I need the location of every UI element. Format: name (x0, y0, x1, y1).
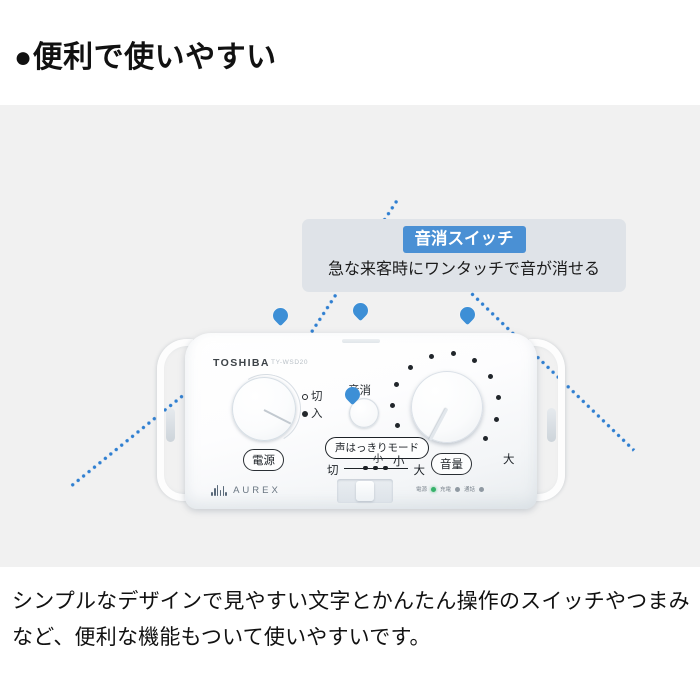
volume-scale-dot (496, 395, 501, 400)
waveform-icon (211, 485, 227, 496)
volume-scale-dot (394, 382, 399, 387)
callout-mute-line: 急な来客時にワンタッチで音が消せる (312, 258, 616, 283)
led-label: 通話 (464, 485, 475, 493)
page-title: ●便利で使いやすい (14, 32, 277, 76)
volume-min-label: 小 (393, 453, 405, 469)
summary-paragraph: シンプルなデザインで見やすい文字とかんたん操作のスイッチやつまみなど、便利な機能… (12, 583, 690, 655)
brand-logo: TOSHIBA (213, 357, 270, 369)
model-number: TY-WSD20 (271, 359, 308, 366)
sub-brand-logo: AUREX (211, 485, 281, 496)
target-dot-volume (457, 304, 478, 325)
volume-scale-dot (451, 351, 456, 356)
voice-scale-tick (363, 466, 368, 471)
callout-mute-title: 音消スイッチ (403, 226, 526, 253)
volume-scale-dot (494, 417, 499, 422)
voice-scale-off-label: 切 (327, 462, 339, 478)
device-illustration: TOSHIBA TY-WSD20 切 入 電 (165, 333, 557, 515)
volume-label: 音量 (431, 453, 472, 475)
power-on-dot-icon (302, 411, 308, 417)
volume-scale-dot (395, 423, 400, 428)
volume-scale-dot (483, 436, 488, 441)
callout-mute[interactable]: 音消スイッチ 急な来客時にワンタッチで音が消せる (302, 219, 626, 292)
title-bullet-icon: ● (14, 41, 33, 74)
volume-scale-dot (488, 374, 493, 379)
sub-brand-text: AUREX (233, 485, 281, 496)
device-body: TOSHIBA TY-WSD20 切 入 電 (185, 333, 537, 509)
voice-scale-small-label: 小 (373, 450, 383, 465)
volume-knob-pointer (429, 408, 449, 441)
volume-scale-dot (390, 403, 395, 408)
title-text: 便利で使いやすい (33, 41, 277, 74)
led-charge-icon (455, 487, 460, 492)
power-off-dot-icon (302, 394, 308, 400)
volume-max-label: 大 (503, 451, 515, 467)
feature-diagram-stage: TOSHIBA TY-WSD20 切 入 電 (0, 105, 700, 567)
voice-mode-slider[interactable] (337, 479, 393, 503)
led-power-icon (431, 487, 436, 492)
power-label: 電源 (243, 449, 284, 471)
led-indicator-row: 電源 充電 通話 (416, 485, 484, 493)
handle-nub-left (166, 408, 175, 442)
target-dot-mute (350, 300, 371, 321)
power-on-label: 入 (311, 406, 323, 423)
voice-mode-slider-handle[interactable] (356, 481, 374, 501)
power-off-label: 切 (311, 389, 323, 406)
voice-scale-tick (373, 466, 378, 471)
voice-scale-tick (383, 466, 388, 471)
led-label: 電源 (416, 485, 427, 493)
power-knob[interactable] (232, 377, 296, 441)
handle-nub-right (547, 408, 556, 442)
power-off-mark: 切 (302, 389, 323, 406)
power-position-marks: 切 入 (302, 389, 323, 422)
led-call-icon (479, 487, 484, 492)
page-root: ●便利で使いやすい TOSHIBA TY-WSD20 (0, 0, 700, 700)
led-label: 充電 (440, 485, 451, 493)
volume-scale-dot (429, 354, 434, 359)
power-on-mark: 入 (302, 406, 323, 423)
volume-knob[interactable] (411, 371, 483, 443)
target-dot-power (270, 305, 291, 326)
volume-scale-dot (408, 365, 413, 370)
volume-scale-dot (472, 358, 477, 363)
